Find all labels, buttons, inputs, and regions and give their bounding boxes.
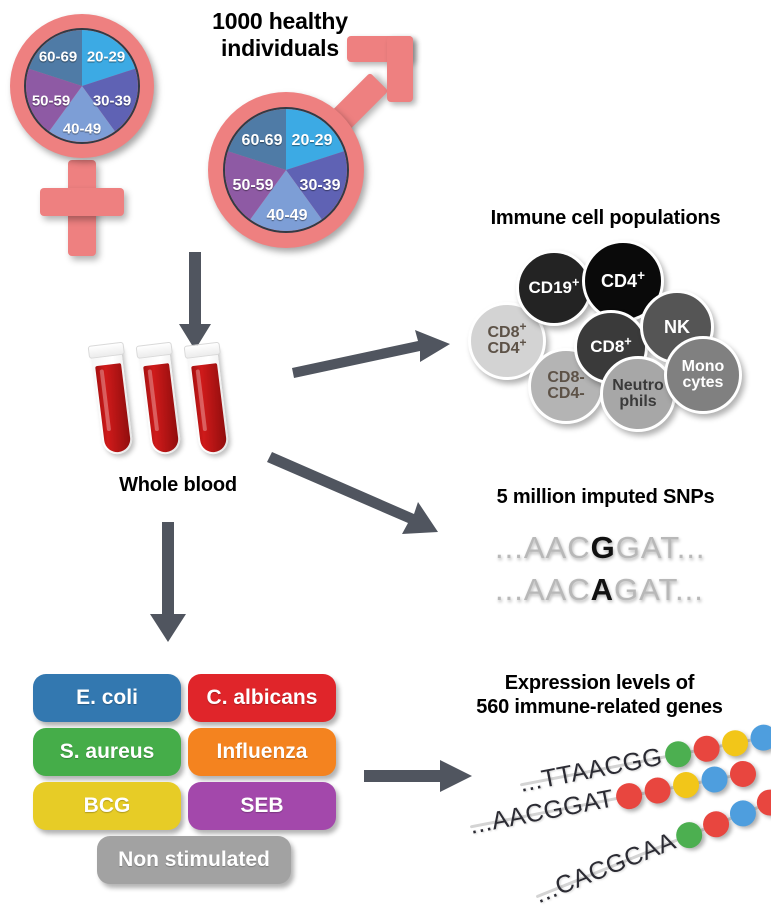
gene-bead <box>726 796 760 830</box>
snp-suffix: GAT... <box>616 530 706 565</box>
gene-title-line2: 560 immune-related genes <box>428 696 771 720</box>
gene-title-line1: Expression levels of <box>428 672 771 696</box>
female-label-40-49: 40-49 <box>63 121 101 138</box>
female-label-20-29: 20-29 <box>87 49 125 66</box>
immune-cell-label: CD8-CD4- <box>547 370 584 403</box>
female-label-60-69: 60-69 <box>39 49 77 66</box>
immune-cell-label: Neutrophils <box>612 378 664 411</box>
gene-bead <box>748 722 771 752</box>
snp-prefix: ...AAC <box>495 572 591 607</box>
stimulation-label: BCG <box>84 794 131 818</box>
stimulation-non-stimulated[interactable]: Non stimulated <box>97 836 291 884</box>
male-label-40-49: 40-49 <box>267 207 308 225</box>
stimulation-calbicans[interactable]: C. albicans <box>188 674 336 722</box>
snps-title: 5 million imputed SNPs <box>440 486 771 510</box>
study-design-diagram: 1000 healthy individuals 20-29 30-39 <box>0 0 771 922</box>
stimulation-seb[interactable]: SEB <box>188 782 336 830</box>
stimulation-label: S. aureus <box>60 740 155 764</box>
male-label-50-59: 50-59 <box>233 177 274 195</box>
gene-bead <box>673 818 707 852</box>
stimulation-label: Influenza <box>216 740 307 764</box>
snp-variant-allele: A <box>591 572 614 607</box>
gene-bead <box>614 780 644 810</box>
snp-prefix: ...AAC <box>495 530 591 565</box>
gene-bead <box>642 775 672 805</box>
immune-populations-title: Immune cell populations <box>440 207 771 231</box>
gene-bead <box>699 807 733 841</box>
blood-tube <box>91 345 134 456</box>
immune-cell-label: Monocytes <box>682 359 725 392</box>
gene-bead <box>699 764 729 794</box>
snp-sequence-row: ...AACGGAT... <box>495 530 706 566</box>
arrow-blood-to-immune <box>292 330 452 378</box>
gene-bead <box>671 769 701 799</box>
tube-glass <box>187 345 230 456</box>
gene-expression-title: Expression levels of 560 immune-related … <box>428 672 771 719</box>
female-crossbar <box>40 188 124 216</box>
gene-bead <box>691 733 721 763</box>
male-arrowhead-vertical <box>387 36 413 102</box>
female-label-50-59: 50-59 <box>32 93 70 110</box>
immune-cell-cd19p: CD19+ <box>516 250 592 326</box>
stimulation-saureus[interactable]: S. aureus <box>33 728 181 776</box>
female-label-30-39: 30-39 <box>93 93 131 110</box>
male-label-60-69: 60-69 <box>242 132 283 150</box>
arrow-blood-to-stimulations <box>148 522 188 644</box>
stimulation-label: Non stimulated <box>118 848 270 872</box>
immune-cell-label: CD4+ <box>601 272 645 290</box>
cohort-title-line1: 1000 healthy <box>160 8 400 35</box>
immune-cell-monocytes: Monocytes <box>664 336 742 414</box>
arrow-cohort-to-blood <box>178 252 212 352</box>
snp-sequence-row: ...AACAGAT... <box>495 572 704 608</box>
gene-bead <box>663 739 693 769</box>
blood-tube <box>187 345 230 456</box>
tube-glass <box>91 345 134 456</box>
stimulation-bcg[interactable]: BCG <box>33 782 181 830</box>
gene-bead <box>728 758 758 788</box>
gene-bead <box>720 728 750 758</box>
male-label-20-29: 20-29 <box>292 132 333 150</box>
stimulation-ecoli[interactable]: E. coli <box>33 674 181 722</box>
immune-cell-label: CD8+CD4+ <box>487 325 526 358</box>
tube-glass <box>139 345 182 456</box>
blood-tube <box>139 345 182 456</box>
male-label-30-39: 30-39 <box>300 177 341 195</box>
immune-cell-label: NK <box>664 318 690 336</box>
immune-cell-label: CD8+ <box>590 338 631 355</box>
stimulation-influenza[interactable]: Influenza <box>188 728 336 776</box>
immune-cell-label: CD19+ <box>529 279 580 296</box>
stimulation-label: SEB <box>240 794 283 818</box>
arrow-stimulations-to-genes <box>364 760 474 794</box>
whole-blood-label: Whole blood <box>78 474 278 498</box>
stimulation-label: C. albicans <box>207 686 318 710</box>
arrow-blood-to-snps <box>272 452 440 538</box>
strand-sequence: ...CACGCAA <box>531 827 680 910</box>
stimulation-label: E. coli <box>76 686 138 710</box>
snp-suffix: GAT... <box>614 572 704 607</box>
snp-variant-allele: G <box>591 530 616 565</box>
